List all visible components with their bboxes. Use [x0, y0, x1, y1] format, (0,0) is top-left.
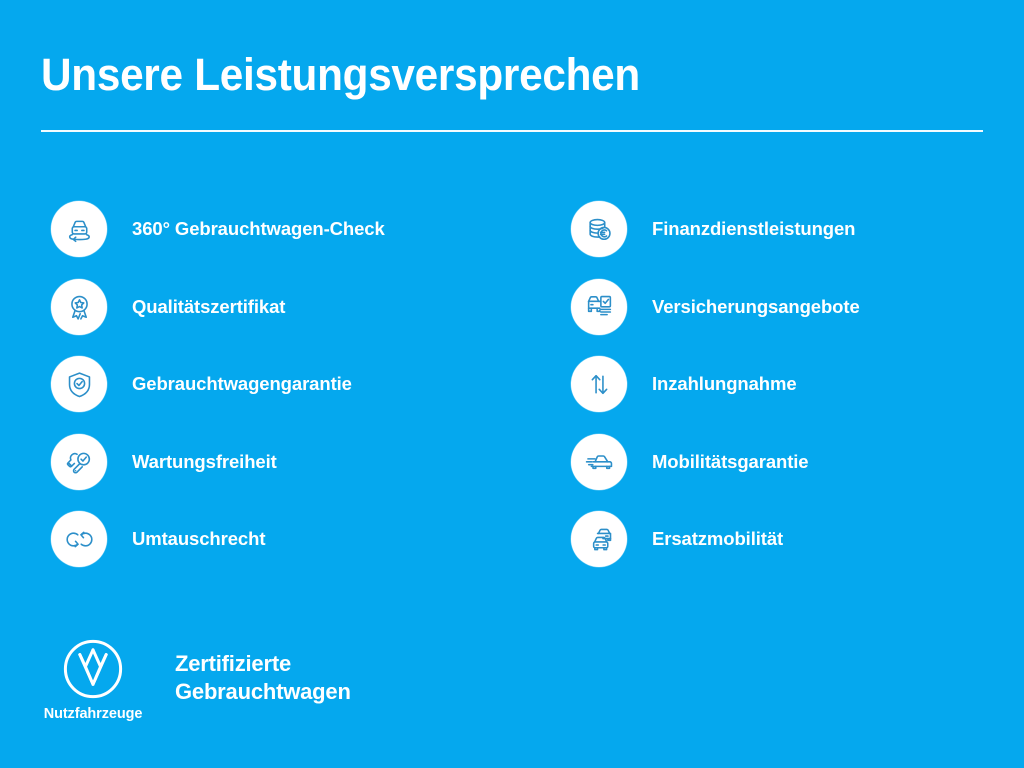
feature-label: Umtauschrecht [132, 528, 265, 550]
feature-label: Finanzdienstleistungen [652, 218, 855, 240]
header: Unsere Leistungsversprechen [41, 48, 983, 132]
feature-item-wartungsfreiheit[interactable]: Wartungsfreiheit [51, 434, 520, 490]
award-rosette-icon [51, 279, 107, 335]
feature-item-ersatzmobilitaet[interactable]: Ersatzmobilität [571, 511, 984, 567]
feature-label: Ersatzmobilität [652, 528, 783, 550]
feature-label: Qualitätszertifikat [132, 296, 285, 318]
feature-column-left: 360° Gebrauchtwagen-Check Qualitätszerti… [0, 201, 520, 567]
feature-item-gebrauchtwagen-check[interactable]: 360° Gebrauchtwagen-Check [51, 201, 520, 257]
slide-root: Unsere Leistungsversprechen 360° Gebrauc [0, 0, 1024, 768]
feature-column-right: Finanzdienstleistungen [520, 201, 984, 567]
shield-check-icon [51, 356, 107, 412]
arrows-up-down-icon [571, 356, 627, 412]
car-document-check-icon [571, 279, 627, 335]
feature-label: 360° Gebrauchtwagen-Check [132, 218, 385, 240]
coins-euro-icon [571, 201, 627, 257]
brand-claim-line-2: Gebrauchtwagen [175, 678, 351, 706]
car-motion-icon [571, 434, 627, 490]
brand-claim: Zertifizierte Gebrauchtwagen [175, 650, 351, 706]
brand-footer: Nutzfahrzeuge Zertifizierte Gebrauchtwag… [41, 638, 351, 723]
feature-item-inzahlungnahme[interactable]: Inzahlungnahme [571, 356, 984, 412]
exchange-arrows-icon [51, 511, 107, 567]
feature-label: Gebrauchtwagengarantie [132, 373, 352, 395]
feature-item-umtauschrecht[interactable]: Umtauschrecht [51, 511, 520, 567]
feature-grid: 360° Gebrauchtwagen-Check Qualitätszerti… [0, 201, 1024, 567]
two-cars-icon [571, 511, 627, 567]
feature-item-gebrauchtwagengarantie[interactable]: Gebrauchtwagengarantie [51, 356, 520, 412]
brand-mark: Nutzfahrzeuge [41, 638, 145, 723]
feature-item-mobilitaetsgarantie[interactable]: Mobilitätsgarantie [571, 434, 984, 490]
feature-label: Mobilitätsgarantie [652, 451, 809, 473]
feature-item-versicherungsangebote[interactable]: Versicherungsangebote [571, 279, 984, 335]
vw-roundel-logo [62, 638, 124, 700]
brand-sub-label: Nutzfahrzeuge [44, 706, 143, 723]
page-title: Unsere Leistungsversprechen [41, 48, 926, 102]
feature-label: Wartungsfreiheit [132, 451, 277, 473]
brand-claim-line-1: Zertifizierte [175, 650, 351, 678]
title-divider [41, 130, 983, 132]
car-360-check-icon [51, 201, 107, 257]
feature-label: Versicherungsangebote [652, 296, 860, 318]
feature-item-finanzdienstleistungen[interactable]: Finanzdienstleistungen [571, 201, 984, 257]
feature-label: Inzahlungnahme [652, 373, 797, 395]
feature-item-qualitaetszertifikat[interactable]: Qualitätszertifikat [51, 279, 520, 335]
wrench-check-icon [51, 434, 107, 490]
